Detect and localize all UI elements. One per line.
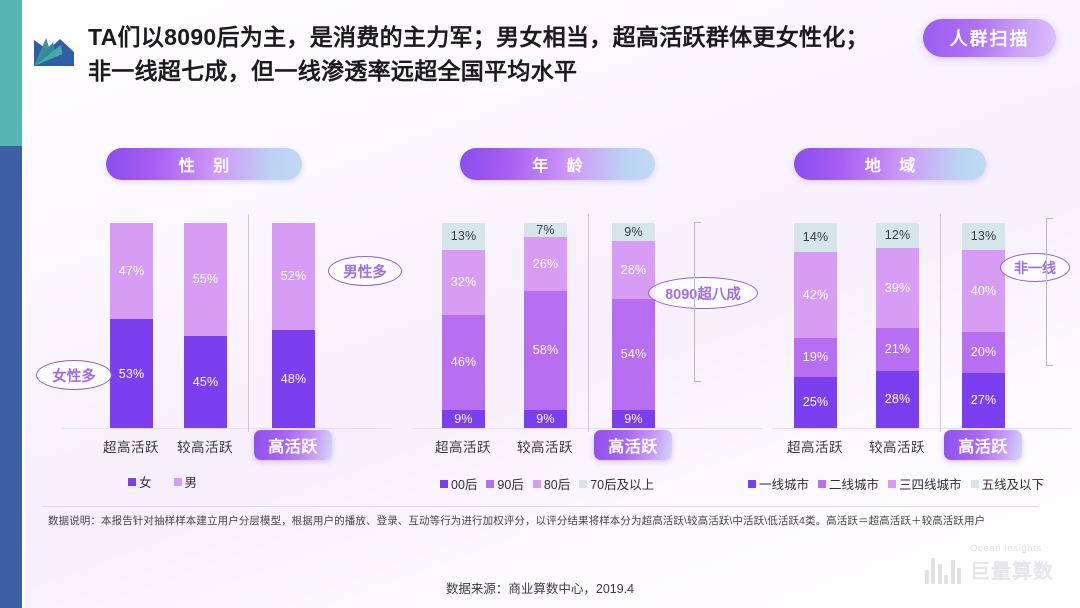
legend-swatch bbox=[174, 478, 182, 486]
bar-segment: 58% bbox=[524, 291, 567, 410]
bar-segment: 25% bbox=[794, 377, 837, 428]
footnote-text: 数据说明：本报告针对抽样样本建立用户分层模型，根据用户的播放、登录、互动等行为进… bbox=[48, 514, 1048, 528]
bar-segment: 32% bbox=[442, 250, 485, 316]
legend-label: 三四线城市 bbox=[899, 474, 962, 493]
chart-panel-age: 年 龄 13%32%46%9%超高活跃7%26%58%9%较高活跃9%28%54… bbox=[412, 148, 762, 488]
mountain-logo-icon bbox=[30, 26, 78, 74]
bar-segment: 13% bbox=[442, 223, 485, 250]
axis-baseline bbox=[772, 428, 1072, 429]
bar-segment: 39% bbox=[876, 248, 919, 328]
legend-label: 男 bbox=[185, 472, 198, 491]
bar-segment: 55% bbox=[184, 223, 227, 336]
legend-item[interactable]: 一线城市 bbox=[748, 474, 809, 493]
bar-segment: 47% bbox=[110, 223, 153, 319]
chart-legend-age: 00后90后80后70后及以上 bbox=[440, 474, 654, 493]
bar-segment: 9% bbox=[612, 223, 655, 241]
legend-swatch bbox=[486, 480, 494, 488]
bar-segment: 12% bbox=[876, 223, 919, 248]
chart-plot-region: 14%42%19%25%超高活跃12%39%21%28%较高活跃13%40%20… bbox=[772, 198, 1072, 488]
chart-plot-gender: 47%53%超高活跃55%45%较高活跃52%48%高活跃 bbox=[62, 198, 392, 488]
axis-baseline bbox=[62, 428, 392, 429]
stacked-bar-column: 13%40%20%27% bbox=[962, 223, 1005, 428]
legend-item[interactable]: 三四线城市 bbox=[888, 474, 962, 493]
bar-segment: 28% bbox=[876, 371, 919, 428]
column-divider bbox=[588, 214, 589, 432]
legend-label: 00后 bbox=[451, 474, 477, 493]
chart-title-age: 年 龄 bbox=[460, 148, 655, 180]
bar-segment: 19% bbox=[794, 338, 837, 377]
stacked-bar-column: 13%32%46%9% bbox=[442, 223, 485, 428]
legend-swatch bbox=[971, 480, 979, 488]
annotation-8090: 8090超八成 bbox=[648, 277, 758, 309]
legend-label: 二线城市 bbox=[829, 474, 879, 493]
legend-label: 80后 bbox=[544, 474, 570, 493]
annotation-female-more: 女性多 bbox=[36, 360, 112, 390]
category-label-normal[interactable]: 较高活跃 bbox=[849, 436, 945, 456]
bar-segment: 7% bbox=[524, 223, 567, 237]
legend-item[interactable]: 男 bbox=[174, 472, 198, 491]
left-edge-blue-bar bbox=[0, 146, 22, 608]
logo-bars-icon bbox=[925, 554, 962, 584]
legend-label: 90后 bbox=[497, 474, 523, 493]
stacked-bar-column: 12%39%21%28% bbox=[876, 223, 919, 428]
legend-swatch bbox=[440, 480, 448, 488]
logo-en-label: Ocean Insights bbox=[970, 543, 1054, 554]
bar-segment: 46% bbox=[442, 315, 485, 409]
category-label-normal[interactable]: 较高活跃 bbox=[497, 436, 593, 456]
page-title: TA们以8090后为主，是消费的主力军；男女相当，超高活跃群体更女性化；非一线超… bbox=[88, 20, 888, 88]
stacked-bar-column: 7%26%58%9% bbox=[524, 223, 567, 428]
bar-segment: 27% bbox=[962, 373, 1005, 428]
stacked-bar-column: 9%28%54%9% bbox=[612, 223, 655, 428]
category-label-highlight[interactable]: 高活跃 bbox=[254, 430, 332, 460]
legend-swatch bbox=[748, 480, 756, 488]
bracket-region bbox=[1046, 218, 1053, 366]
category-label-highlight[interactable]: 高活跃 bbox=[594, 430, 672, 460]
source-text: 数据来源：商业算数中心，2019.4 bbox=[0, 578, 1080, 597]
legend-swatch bbox=[579, 480, 587, 488]
column-divider bbox=[248, 214, 249, 432]
status-badge: 人群扫描 bbox=[923, 19, 1056, 57]
bar-segment: 26% bbox=[524, 237, 567, 290]
bar-segment: 9% bbox=[612, 410, 655, 428]
footer-divider bbox=[42, 506, 1038, 507]
stacked-bar-column: 55%45% bbox=[184, 223, 227, 428]
legend-item[interactable]: 二线城市 bbox=[818, 474, 879, 493]
legend-item[interactable]: 70后及以上 bbox=[579, 474, 654, 493]
legend-swatch bbox=[533, 480, 541, 488]
legend-swatch bbox=[888, 480, 896, 488]
bar-segment: 40% bbox=[962, 250, 1005, 332]
bar-segment: 14% bbox=[794, 223, 837, 252]
legend-label: 一线城市 bbox=[759, 474, 809, 493]
annotation-male-more: 男性多 bbox=[328, 256, 402, 286]
stacked-bar-column: 52%48% bbox=[272, 223, 315, 428]
annotation-non-first-tier: 非一线 bbox=[1000, 253, 1070, 282]
chart-legend-gender: 女男 bbox=[128, 472, 197, 491]
legend-item[interactable]: 五线及以下 bbox=[971, 474, 1045, 493]
ocean-insights-logo: Ocean Insights 巨量算数 bbox=[925, 543, 1055, 584]
legend-swatch bbox=[128, 478, 136, 486]
chart-plot-age: 13%32%46%9%超高活跃7%26%58%9%较高活跃9%28%54%9%高… bbox=[412, 198, 762, 488]
legend-label: 女 bbox=[139, 472, 152, 491]
chart-title-gender: 性 别 bbox=[106, 148, 302, 180]
axis-baseline bbox=[412, 428, 762, 429]
bracket-age bbox=[694, 222, 701, 382]
bar-segment: 9% bbox=[442, 410, 485, 428]
chart-panel-region: 地 域 14%42%19%25%超高活跃12%39%21%28%较高活跃13%4… bbox=[772, 148, 1072, 488]
bar-segment: 13% bbox=[962, 223, 1005, 250]
category-label-normal[interactable]: 较高活跃 bbox=[157, 436, 253, 456]
stacked-bar-column: 47%53% bbox=[110, 223, 153, 428]
bar-segment: 54% bbox=[612, 299, 655, 410]
bar-segment: 9% bbox=[524, 410, 567, 428]
bar-segment: 20% bbox=[962, 332, 1005, 373]
legend-item[interactable]: 00后 bbox=[440, 474, 477, 493]
category-label-highlight[interactable]: 高活跃 bbox=[944, 430, 1022, 460]
stacked-bar-column: 14%42%19%25% bbox=[794, 223, 837, 428]
chart-title-region: 地 域 bbox=[794, 148, 986, 180]
bar-segment: 42% bbox=[794, 252, 837, 338]
legend-swatch bbox=[818, 480, 826, 488]
bar-segment: 53% bbox=[110, 319, 153, 428]
legend-item[interactable]: 90后 bbox=[486, 474, 523, 493]
column-divider bbox=[940, 214, 941, 432]
legend-item[interactable]: 女 bbox=[128, 472, 152, 491]
logo-cn-label: 巨量算数 bbox=[970, 555, 1054, 584]
chart-legend-region: 一线城市二线城市三四线城市五线及以下 bbox=[748, 474, 1044, 493]
page-header: TA们以8090后为主，是消费的主力军；男女相当，超高活跃群体更女性化；非一线超… bbox=[0, 0, 1080, 110]
legend-label: 70后及以上 bbox=[590, 474, 654, 493]
chart-panel-gender: 性 别 47%53%超高活跃55%45%较高活跃52%48%高活跃 bbox=[62, 148, 392, 488]
bar-segment: 48% bbox=[272, 330, 315, 428]
bar-segment: 45% bbox=[184, 336, 227, 428]
legend-item[interactable]: 80后 bbox=[533, 474, 570, 493]
bar-segment: 21% bbox=[876, 328, 919, 371]
legend-label: 五线及以下 bbox=[982, 474, 1045, 493]
bar-segment: 52% bbox=[272, 223, 315, 330]
